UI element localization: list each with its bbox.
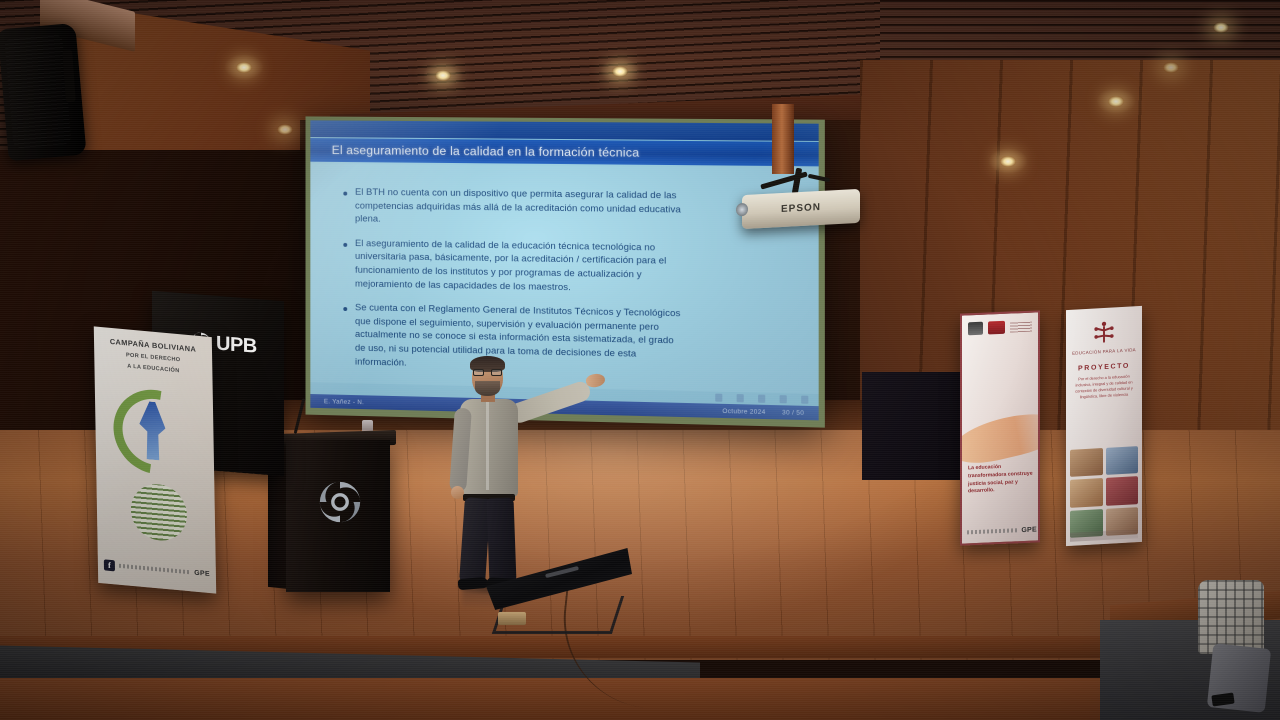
facebook-icon: f (104, 559, 115, 571)
project-banner-brand: EDUCACIÓN PARA LA VIDA (1072, 347, 1136, 357)
mount-arm-post (792, 168, 802, 195)
slide-icon-glyph (737, 394, 744, 402)
stage-side-furniture (862, 372, 974, 480)
slide-bullet: El BTH no cuenta con un dispositivo que … (343, 186, 792, 232)
education-footer-microtext (967, 528, 1018, 534)
presenter-shirt-placket (486, 402, 489, 490)
presenter-leg-right (487, 498, 517, 584)
downlight-icon (1000, 156, 1016, 167)
project-banner: EDUCACIÓN PARA LA VIDA PROYECTO Por el d… (1066, 306, 1142, 546)
slide-title: El aseguramiento de la calidad en la for… (310, 143, 639, 160)
slide-icon-glyph (801, 396, 808, 404)
project-banner-subtext: Por el derecho a la educación inclusiva,… (1072, 373, 1136, 401)
project-banner-photo-grid (1070, 446, 1138, 538)
audience-member (1190, 572, 1276, 720)
education-banner-footer: GPE (967, 524, 1037, 537)
downlight-icon (1213, 22, 1229, 33)
banner-photo (1106, 476, 1139, 505)
slide-bullet: El aseguramiento de la calidad de la edu… (343, 237, 792, 298)
glasses-lens-right (491, 369, 502, 376)
projector-brand-label: EPSON (742, 200, 860, 217)
campaign-banner: CAMPAÑA BOLIVIANA POR EL DERECHO A LA ED… (94, 326, 216, 593)
downlight-icon (1163, 62, 1179, 73)
ceiling-projector: EPSON (742, 189, 860, 229)
slide-footer-right: Octubre 2024 30 / 50 (722, 407, 804, 416)
downlight-icon (1108, 96, 1124, 107)
slide-title-bar: El aseguramiento de la calidad en la for… (310, 138, 818, 166)
banner-photo (1070, 448, 1103, 477)
campaign-banner-footer: f GPE (104, 555, 210, 583)
downlight-icon (277, 124, 293, 135)
presenter-right-arm (507, 379, 593, 425)
projector-mount-pole (772, 104, 794, 174)
gpe-logo: GPE (194, 569, 210, 577)
upb-wordmark: UPB (216, 334, 257, 357)
slide-footer-page: 30 / 50 (782, 409, 804, 417)
downlight-icon (435, 70, 451, 81)
partner-logo-a (968, 322, 983, 336)
glasses-icon (473, 369, 502, 376)
bullet-dot-icon (343, 307, 347, 311)
bullet-dot-icon (343, 243, 347, 247)
bullet-dot-icon (343, 192, 347, 196)
mount-arm-bar (808, 174, 830, 182)
education-banner: La educación transformadora construye ju… (960, 310, 1040, 545)
slide-bullet-text: El BTH no cuenta con un dispositivo que … (355, 186, 683, 231)
banner-photo (1070, 478, 1103, 507)
slide-footer-author: E. Yañez - N. (324, 398, 364, 406)
upb-swirl-logo-icon (316, 478, 364, 526)
project-tree-person-icon (1091, 319, 1117, 346)
slide-bullet-text: El aseguramiento de la calidad de la edu… (355, 237, 683, 296)
presenter-trousers (462, 498, 517, 583)
campaign-globe-graphic (130, 482, 187, 543)
gpe-logo-right: GPE (1021, 526, 1037, 534)
education-banner-logos (968, 320, 1032, 336)
glasses-lens-left (473, 369, 484, 376)
education-banner-text: La educación transformadora construye ju… (968, 462, 1038, 496)
conference-hall-scene: El aseguramiento de la calidad en la for… (0, 0, 1280, 720)
project-banner-heading: PROYECTO (1072, 362, 1136, 373)
downlight-icon (236, 62, 252, 73)
presenter-beard (475, 381, 500, 396)
audience-plaid-shirt (1198, 580, 1264, 654)
slide-toolbar-icons (715, 394, 808, 404)
education-banner-swoosh (960, 405, 1040, 469)
monitor-label-plate (498, 612, 526, 625)
slide-icon-glyph (780, 395, 787, 403)
presenter-right-hand (585, 372, 606, 389)
campaign-footer-microtext (119, 564, 190, 575)
banner-photo (1106, 446, 1139, 475)
slide-footer-date: Octubre 2024 (722, 407, 765, 415)
downlight-icon (612, 66, 628, 77)
partner-logo-c (1010, 321, 1032, 332)
partner-logo-b (988, 321, 1005, 335)
slide-icon-glyph (715, 394, 722, 402)
slide-icon-glyph (758, 395, 765, 403)
